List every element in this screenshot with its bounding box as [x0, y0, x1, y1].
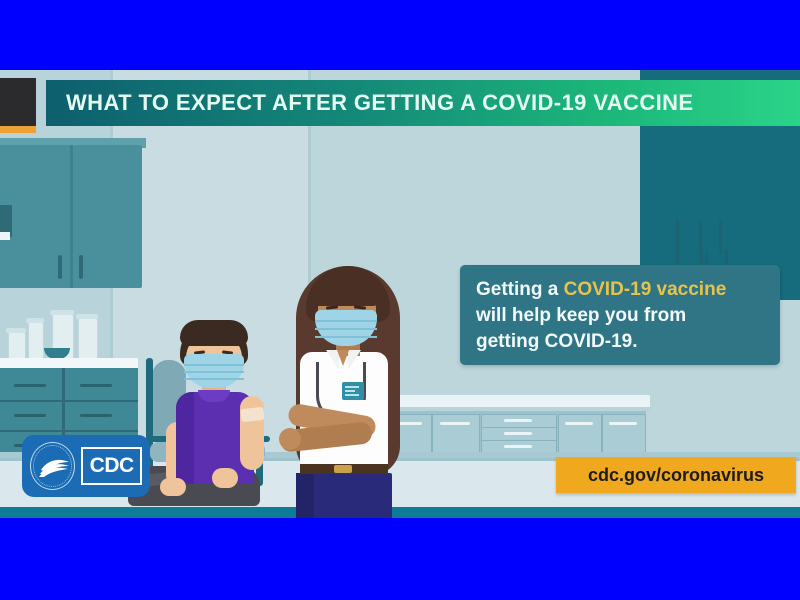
- cdc-logo[interactable]: CDC: [22, 435, 150, 497]
- title-banner: WHAT TO EXPECT AFTER GETTING A COVID-19 …: [46, 80, 800, 126]
- patient-shirt-shadow: [176, 392, 194, 484]
- cabinet-handle: [79, 255, 83, 279]
- message-line1-prefix: Getting a: [476, 279, 564, 300]
- message-text: Getting a COVID-19 vaccine will help kee…: [476, 277, 764, 355]
- drawer-handle: [14, 384, 46, 387]
- patient-right-hand: [212, 468, 238, 488]
- mask-pleat: [315, 320, 377, 322]
- cabinet-seam: [0, 430, 138, 432]
- supply-jar: [28, 322, 44, 360]
- vaccination-bandage: [240, 407, 264, 422]
- badge-line: [345, 394, 359, 396]
- corner-block: [0, 78, 36, 126]
- illustration-card: Getting a COVID-19 vaccine will help kee…: [0, 70, 800, 518]
- supply-jar-lid: [26, 318, 44, 323]
- drawer-handle: [80, 414, 112, 417]
- patient-left-hand: [160, 478, 186, 496]
- cabinet-seam: [0, 400, 138, 402]
- cabinet-handle: [58, 255, 62, 279]
- cdc-wordmark: CDC: [90, 454, 134, 478]
- drawer-handle: [80, 384, 112, 387]
- left-counter-top: [0, 358, 138, 368]
- patient-hair-front: [180, 320, 248, 346]
- corner-gap: [36, 78, 46, 126]
- watermark-text: [700, 498, 792, 512]
- drawer-handle: [504, 445, 532, 448]
- tubing-stem: [676, 220, 679, 254]
- supply-jar-lid: [6, 328, 26, 333]
- drawer-handle: [504, 432, 532, 435]
- tubing-stem: [719, 220, 722, 254]
- back-counter-top: [378, 395, 650, 407]
- cabinet-handle: [440, 422, 470, 425]
- dispenser-paper: [0, 232, 10, 240]
- url-text: cdc.gov/coronavirus: [588, 465, 764, 486]
- cabinet-handle: [609, 422, 637, 425]
- corner-accent-strip: [0, 126, 36, 133]
- badge-line: [345, 390, 355, 392]
- mask-pleat: [315, 328, 377, 330]
- mask-pleat: [184, 378, 244, 380]
- message-highlight: COVID-19 vaccine: [564, 279, 727, 300]
- nurse-skirt-shadow: [296, 473, 314, 518]
- hhs-bird-glyph: [38, 456, 72, 478]
- hhs-seal-icon: [30, 442, 75, 490]
- cdc-wordmark-box: CDC: [81, 447, 142, 485]
- floor-base-strip: [0, 507, 800, 518]
- nurse-hand: [279, 428, 301, 450]
- supply-jar: [8, 332, 26, 360]
- mask-pleat: [184, 371, 244, 373]
- message-callout-box: Getting a COVID-19 vaccine will help kee…: [460, 265, 780, 365]
- message-line3: getting COVID-19.: [476, 331, 638, 352]
- supply-jar: [78, 318, 98, 360]
- drawer-handle: [14, 414, 46, 417]
- nurse-belt-buckle: [334, 465, 352, 473]
- poster-stage: Getting a COVID-19 vaccine will help kee…: [0, 0, 800, 600]
- drawer-handle: [504, 419, 532, 422]
- url-banner[interactable]: cdc.gov/coronavirus: [556, 457, 796, 493]
- mask-pleat: [184, 364, 244, 366]
- supply-jar-lid: [76, 314, 98, 319]
- message-line2: will help keep you from: [476, 305, 686, 326]
- mask-pleat: [315, 336, 377, 338]
- cabinet-handle: [565, 422, 593, 425]
- badge-line: [345, 386, 359, 388]
- supply-jar-lid: [50, 310, 74, 315]
- tubing-stem: [699, 220, 702, 254]
- nurse-hair-fringe: [310, 272, 380, 306]
- page-title: WHAT TO EXPECT AFTER GETTING A COVID-19 …: [46, 90, 694, 116]
- cabinet-divider: [70, 145, 73, 288]
